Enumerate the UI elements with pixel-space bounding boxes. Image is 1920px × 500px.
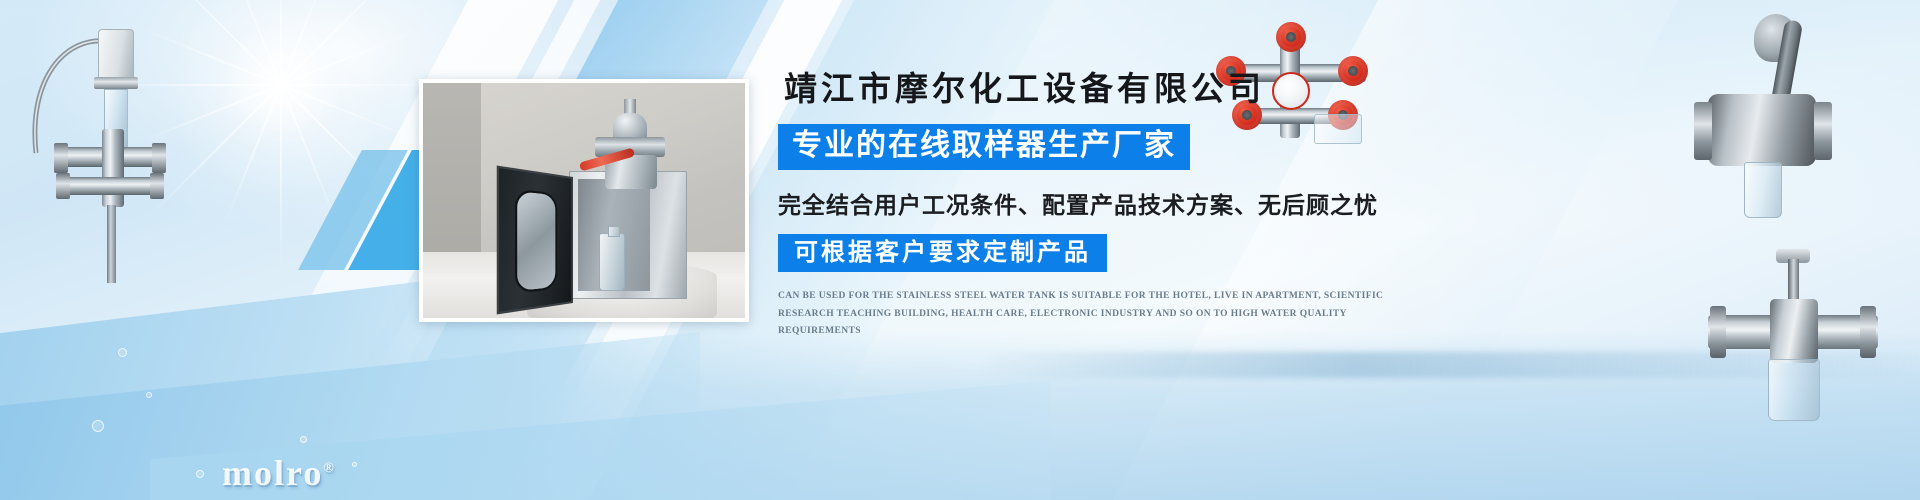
probe-rod (107, 205, 116, 283)
valve-flange-left (1710, 306, 1726, 358)
product-photo (419, 79, 749, 322)
watermark-text: molro (222, 453, 323, 493)
valve-main-body (1708, 94, 1816, 166)
company-name: 靖江市摩尔化工设备有限公司 (784, 72, 1418, 108)
inline-valve-assembly (1708, 255, 1878, 425)
english-description: CAN BE USED FOR THE STAINLESS STEEL WATE… (778, 288, 1388, 341)
lever-valve-assembly (1690, 20, 1850, 220)
valve-flange-right (1814, 102, 1832, 160)
brand-watermark: molro® (222, 452, 336, 494)
bubble-icon (118, 348, 127, 357)
bubble-icon (92, 420, 104, 432)
sampler-valve-head (591, 111, 669, 173)
left-equipment-assembly (10, 25, 180, 285)
bubble-icon (146, 392, 152, 398)
cabinet-door-window (515, 189, 557, 294)
flange-left (54, 143, 68, 173)
bubble-icon (352, 462, 357, 467)
tagline-primary: 专业的在线取样器生产厂家 (778, 124, 1190, 170)
valve-flange-right (1860, 306, 1876, 358)
promo-banner: 靖江市摩尔化工设备有限公司 专业的在线取样器生产厂家 完全结合用户工况条件、配置… (0, 0, 1920, 500)
sensor-flange (94, 77, 138, 89)
bubble-icon (196, 470, 204, 478)
valve-flange-left (1694, 102, 1712, 160)
headline-text-block: 靖江市摩尔化工设备有限公司 专业的在线取样器生产厂家 完全结合用户工况条件、配置… (778, 72, 1418, 341)
bubble-icon (300, 436, 307, 443)
valve-outlet-tube (1744, 162, 1782, 218)
valve-stem (1788, 259, 1799, 303)
valve-center-body (1770, 299, 1818, 363)
registered-mark-icon: ® (323, 461, 335, 476)
sample-bottle (599, 233, 625, 291)
lower-manifold (66, 177, 154, 195)
sensor-head (98, 29, 134, 81)
flange-right (152, 143, 166, 173)
handwheel-icon (1276, 22, 1306, 52)
sampler-cabinet-door (497, 165, 573, 314)
flange-lower-right (150, 173, 164, 199)
valve-cross-vertical (102, 129, 124, 207)
tagline-secondary: 完全结合用户工况条件、配置产品技术方案、无后顾之忧 (778, 186, 1418, 220)
tagline-tertiary: 可根据客户要求定制产品 (778, 234, 1107, 272)
flange-lower-left (56, 173, 70, 199)
valve-sight-glass (1768, 359, 1820, 421)
